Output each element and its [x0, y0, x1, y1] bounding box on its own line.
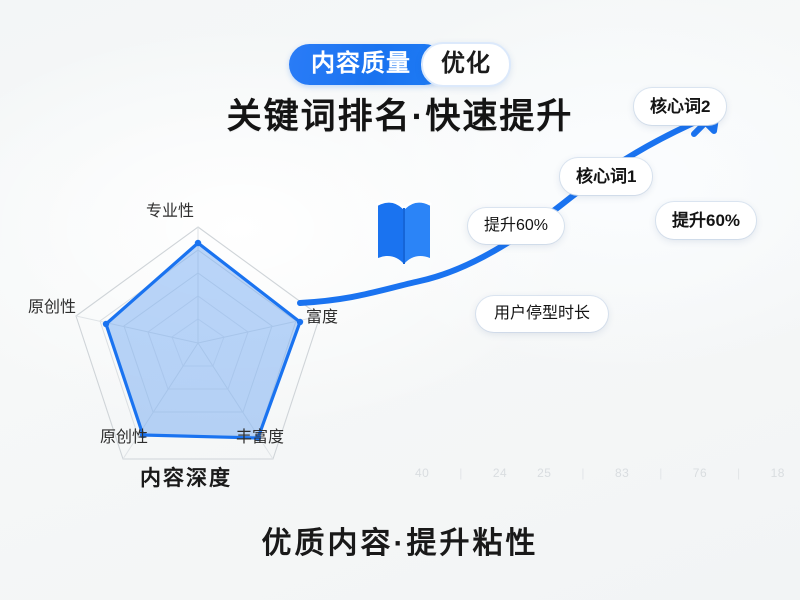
badge: 内容质量 优化: [289, 42, 511, 87]
content-depth-caption: 内容深度: [140, 462, 232, 492]
pill-uplift-left[interactable]: 提升60%: [468, 208, 564, 244]
axis-label-5: 83: [615, 466, 629, 480]
radar-axis-label-0: 专业性: [146, 197, 194, 221]
axis-label-2: 24: [493, 466, 507, 480]
axis-label-0: 40: [415, 466, 429, 480]
radar-chart: 专业性 富度 丰富度 原创性 原创性: [28, 185, 368, 485]
radar-chart-svg: [28, 185, 368, 485]
axis-label-7: 76: [693, 466, 707, 480]
page-subtitle: 优质内容·提升粘性: [0, 518, 800, 562]
badge-row: 内容质量 优化: [0, 42, 800, 87]
axis-tick-8: |: [737, 466, 741, 480]
pill-uplift-right[interactable]: 提升60%: [656, 202, 756, 239]
axis-label-3: 25: [537, 466, 551, 480]
radar-axis-label-2: 丰富度: [236, 423, 284, 447]
pill-core-keyword-2[interactable]: 核心词2: [634, 88, 726, 125]
faint-axis-row: 40 | 24 25 | 83 | 76 | 18: [415, 466, 785, 480]
badge-secondary-label: 优化: [421, 42, 511, 87]
axis-tick-6: |: [659, 466, 663, 480]
radar-axis-label-1: 富度: [306, 303, 338, 327]
open-book-icon: [374, 192, 434, 270]
pill-core-keyword-1[interactable]: 核心词1: [560, 158, 652, 195]
axis-tick-1: |: [459, 466, 463, 480]
axis-label-9: 18: [771, 466, 785, 480]
radar-axis-label-4: 原创性: [28, 293, 76, 317]
axis-tick-4: |: [581, 466, 585, 480]
radar-series-content-quality: [103, 240, 303, 441]
radar-axis-label-3: 原创性: [100, 423, 148, 447]
pill-user-dwell-time[interactable]: 用户停型时长: [476, 296, 608, 332]
